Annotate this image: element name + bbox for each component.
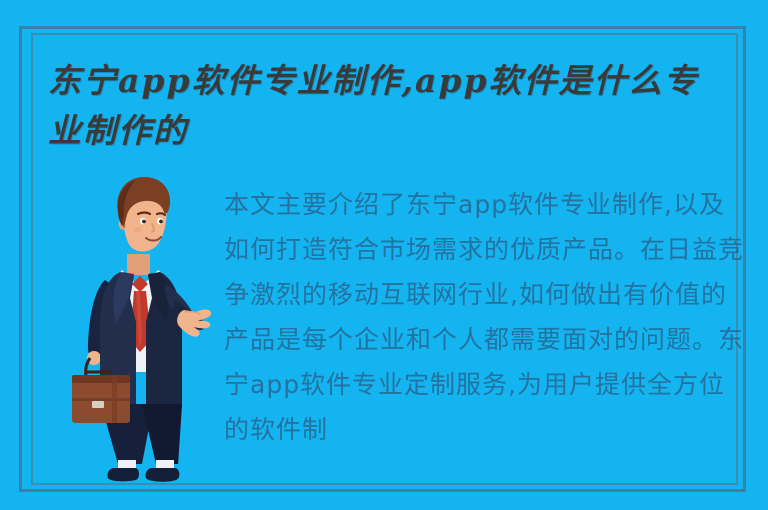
article-body: 本文主要介绍了东宁app软件专业制作,以及如何打造符合市场需求的优质产品。在日益… [224,182,744,492]
page-title: 东宁app软件专业制作,app软件是什么专业制作的 [48,56,728,156]
businessman-illustration [72,172,212,490]
article-body-text: 本文主要介绍了东宁app软件专业制作,以及如何打造符合市场需求的优质产品。在日益… [224,182,744,452]
title-block: 东宁app软件专业制作,app软件是什么专业制作的 [48,56,728,156]
poster-canvas: 东宁app软件专业制作,app软件是什么专业制作的 [0,0,768,510]
